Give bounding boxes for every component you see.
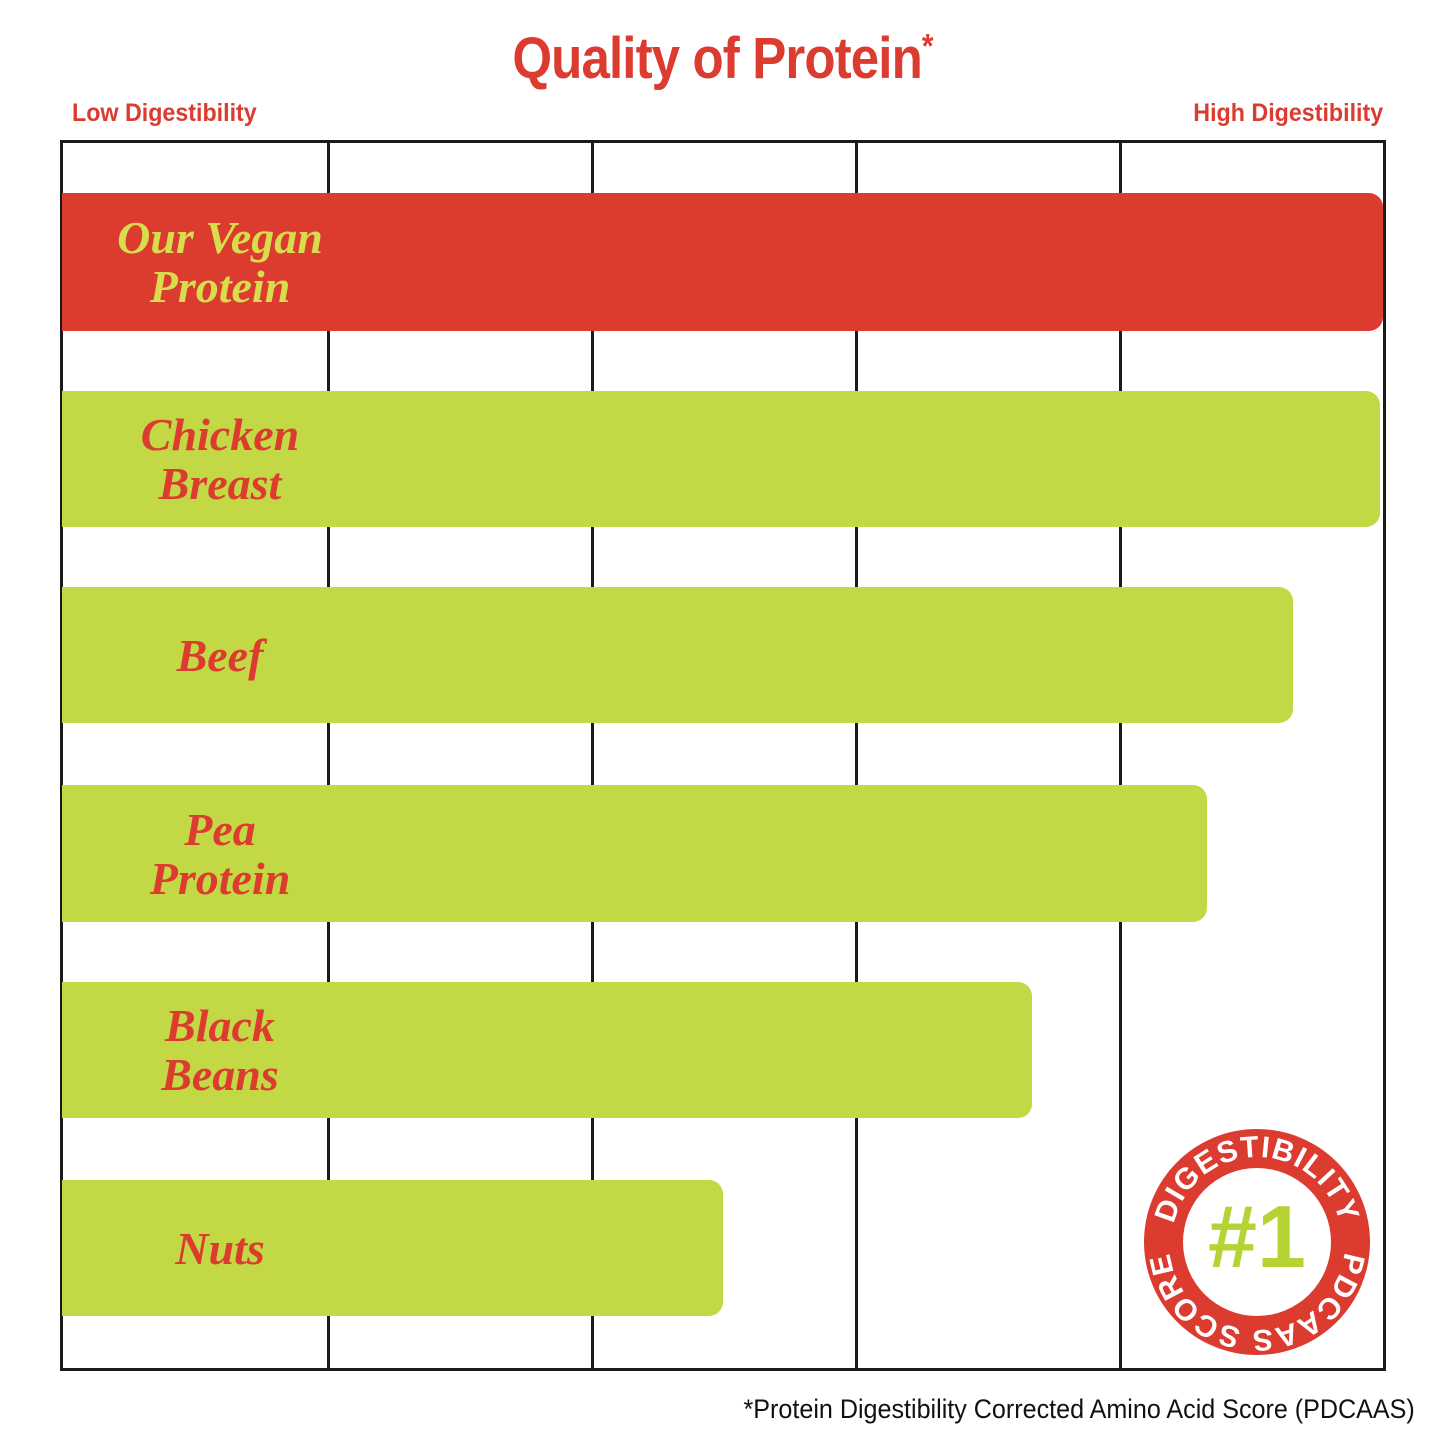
bar-pea-protein: Pea Protein — [62, 785, 1207, 922]
page-title: Quality of Protein* — [87, 28, 1359, 90]
axis-label-high-digestibility: High Digestibility — [1193, 98, 1383, 128]
bar-label: Pea Protein — [80, 805, 360, 903]
bar-nuts: Nuts — [62, 1180, 723, 1316]
bar-label: Chicken Breast — [80, 410, 360, 508]
page-title-text: Quality of Protein — [512, 26, 922, 91]
badge-center-text: #1 — [1208, 1187, 1306, 1286]
bar-label: Our Vegan Protein — [80, 213, 360, 311]
bar-beef: Beef — [62, 587, 1293, 723]
bar-our-vegan-protein: Our Vegan Protein — [62, 193, 1383, 331]
axis-label-low-digestibility: Low Digestibility — [72, 98, 257, 128]
bar-black-beans: Black Beans — [62, 982, 1032, 1118]
protein-quality-infographic: Quality of Protein* Low Digestibility Hi… — [0, 0, 1445, 1445]
bar-label: Beef — [80, 631, 360, 680]
bar-label: Nuts — [80, 1224, 360, 1273]
badge-graphic: DIGESTIBILITY PDCAAS SCORE #1 — [1142, 1127, 1372, 1357]
bar-label: Black Beans — [80, 1001, 360, 1099]
bar-chicken-breast: Chicken Breast — [62, 391, 1380, 527]
title-asterisk: * — [922, 28, 933, 66]
footnote: *Protein Digestibility Corrected Amino A… — [744, 1393, 1415, 1425]
pdcaas-score-badge: DIGESTIBILITY PDCAAS SCORE #1 — [1142, 1127, 1372, 1357]
